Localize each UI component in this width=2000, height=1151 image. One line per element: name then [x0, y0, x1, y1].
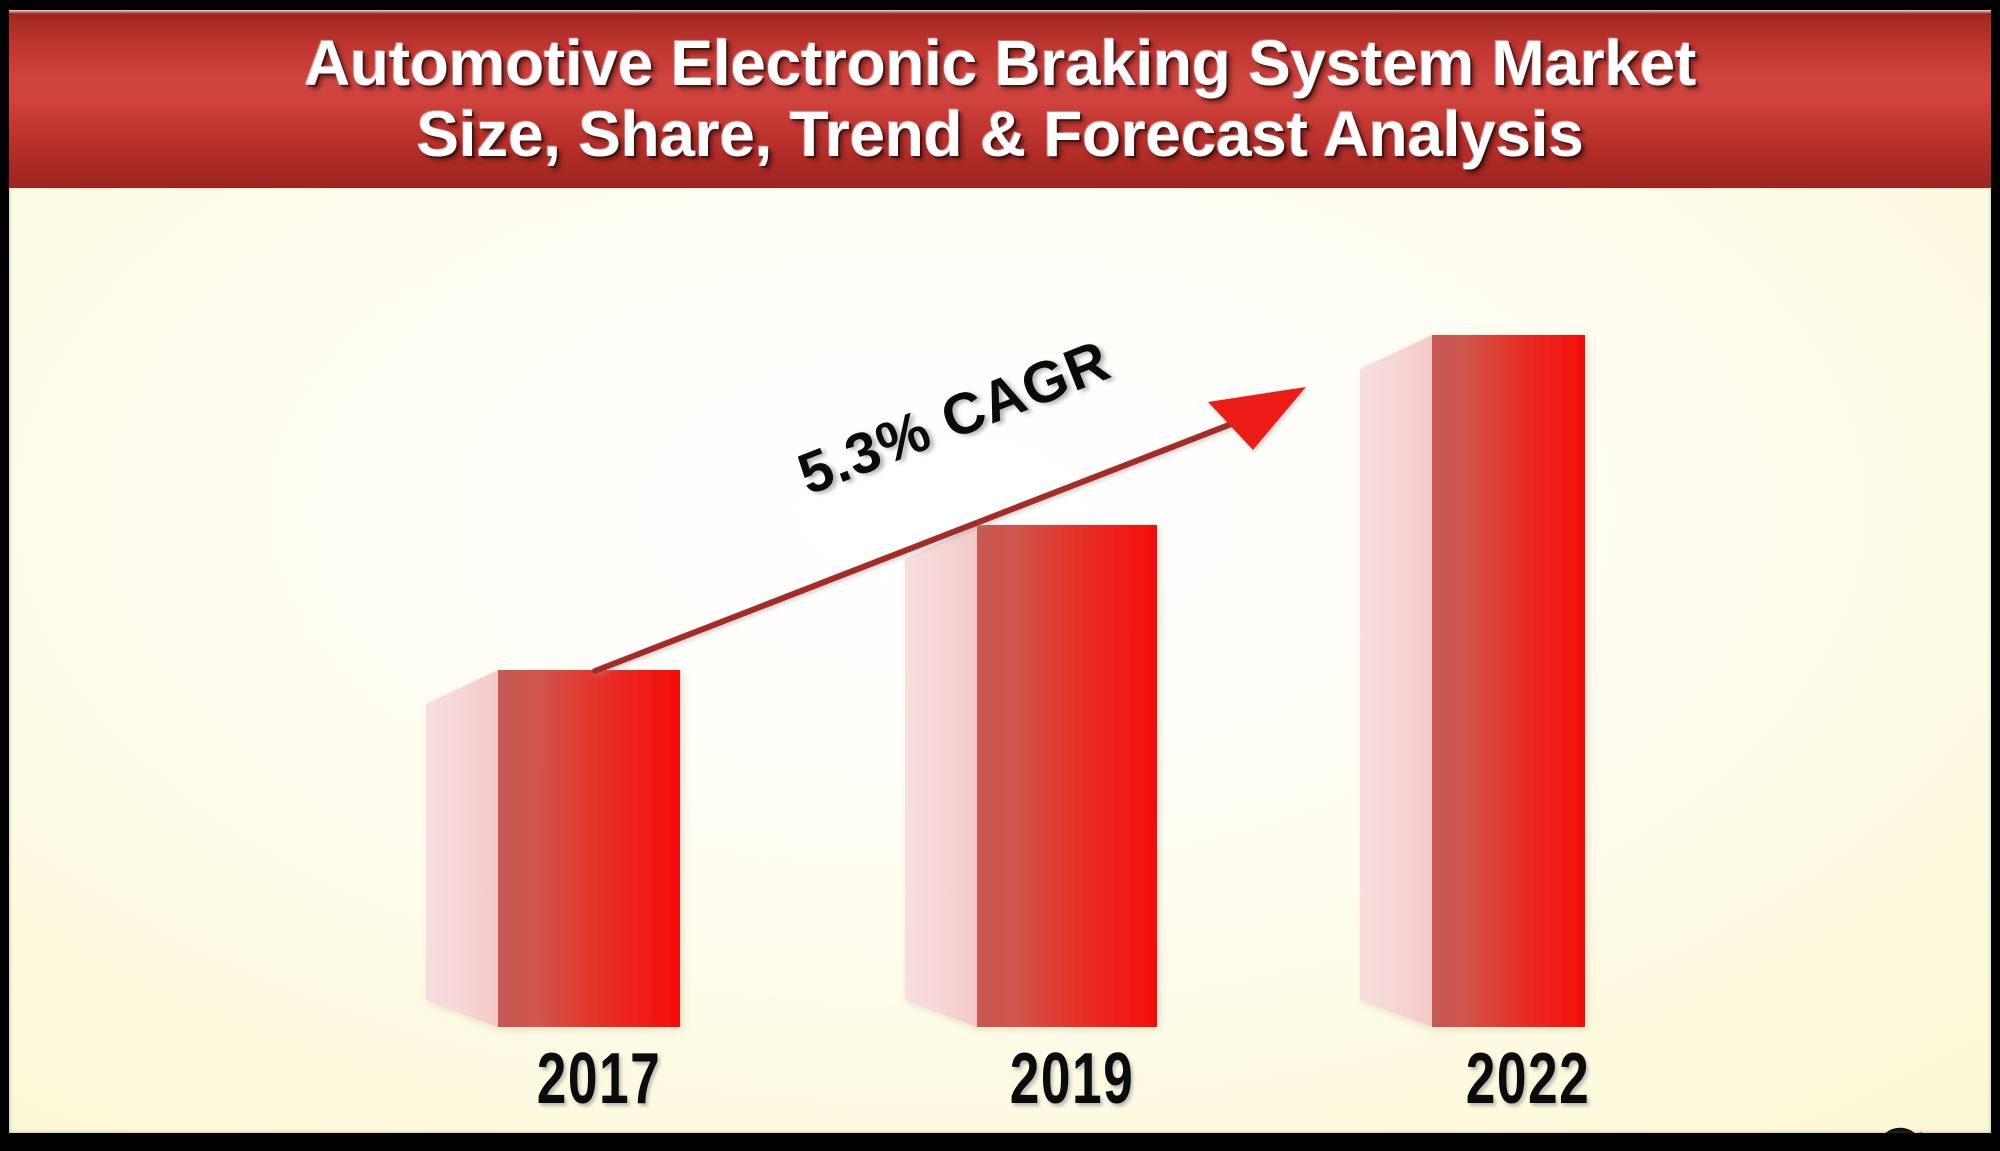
x-axis-label-2017: 2017 [510, 1043, 688, 1115]
bar-side-face-2017 [426, 670, 498, 1027]
bar-group-2019[interactable] [905, 525, 1157, 1027]
bar-front-face-2022 [1432, 335, 1585, 1027]
bar-side-face-2022 [1360, 335, 1432, 1027]
x-axis-label-2022: 2022 [1439, 1043, 1617, 1115]
bar-group-2022[interactable] [1360, 335, 1585, 1027]
bar-side-face-2019 [905, 525, 977, 1027]
growth-arrow-head [1208, 387, 1306, 450]
bar-front-face-2019 [977, 525, 1157, 1027]
magnifier-bar-chart-arrow-icon [1868, 1124, 1934, 1133]
bar-chart-svg [9, 188, 1991, 1133]
chart-plot-area: 5.3% CAGR 2017 2019 2022 Stratview TM [9, 188, 1991, 1133]
title-banner: Automotive Electronic Braking System Mar… [9, 10, 1991, 188]
slide-canvas: Automotive Electronic Braking System Mar… [0, 0, 2000, 1151]
stratview-research-logo: Stratview TM Research Strategic Insights… [1767, 1128, 1989, 1133]
page-title-line-1: Automotive Electronic Braking System Mar… [304, 31, 1696, 96]
bar-front-face-2017 [498, 670, 680, 1027]
bar-group-2017[interactable] [426, 670, 680, 1027]
x-axis-label-2019: 2019 [983, 1043, 1161, 1115]
page-title-line-2: Size, Share, Trend & Forecast Analysis [416, 102, 1583, 167]
